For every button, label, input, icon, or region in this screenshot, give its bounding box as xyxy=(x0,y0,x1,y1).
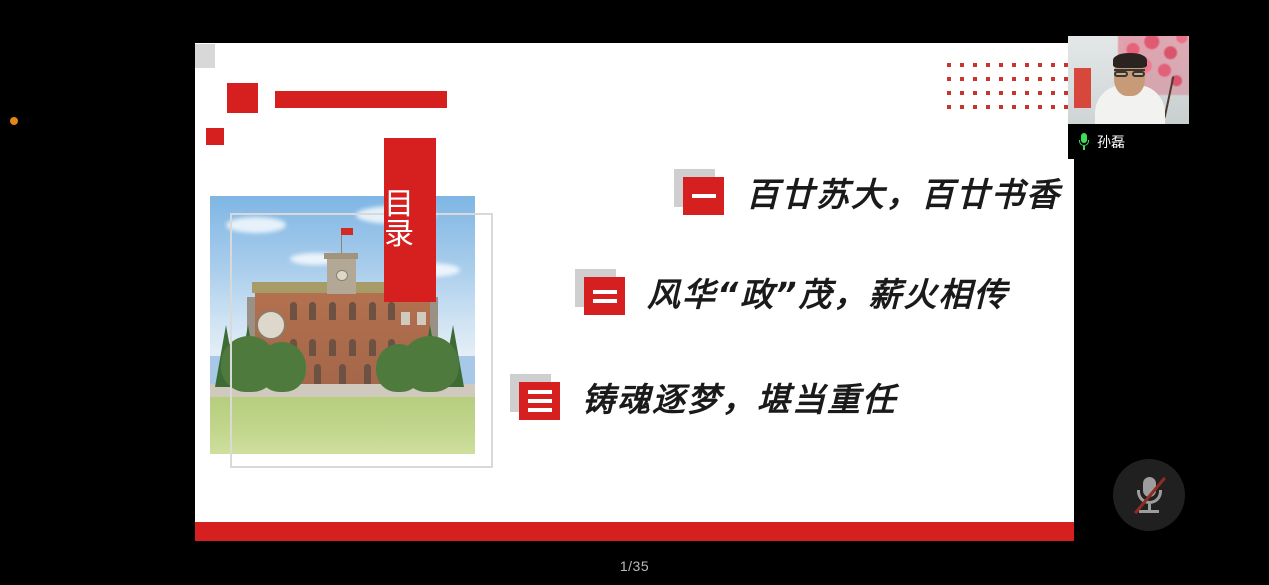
photo-offset-frame xyxy=(230,213,493,468)
toc-heading-block: 目录 xyxy=(384,138,436,302)
glasses-icon xyxy=(1114,69,1145,77)
toc-entry-2[interactable]: 风华“政”茂，薪火相传 xyxy=(575,268,1009,316)
video-person-hair xyxy=(1113,53,1147,68)
toc-entry-2-label: 风华“政”茂，薪火相传 xyxy=(647,268,1009,316)
toc-entry-3-label: 铸魂逐梦，堪当重任 xyxy=(582,373,897,421)
slide-corner-tab xyxy=(195,44,215,68)
number-three-icon xyxy=(510,374,560,420)
toc-entry-1[interactable]: 百廿苏大，百廿书香 xyxy=(674,168,1061,216)
participant-name-bar: 孙磊 xyxy=(1068,124,1189,159)
title-square-small-decoration xyxy=(206,128,224,145)
video-background-poster xyxy=(1074,68,1091,108)
dot-grid-decoration xyxy=(947,63,1074,119)
slide-bottom-band xyxy=(195,522,1074,541)
toc-entry-3[interactable]: 铸魂逐梦，堪当重任 xyxy=(510,373,897,421)
microphone-icon xyxy=(1078,133,1090,150)
status-dot xyxy=(10,117,18,125)
microphone-muted-button[interactable] xyxy=(1113,459,1185,531)
participant-video-tile[interactable]: 孙磊 xyxy=(1068,36,1189,159)
participant-name: 孙磊 xyxy=(1097,132,1125,152)
title-square-decoration xyxy=(227,83,258,113)
toc-entry-1-label: 百廿苏大，百廿书香 xyxy=(746,168,1061,216)
slide-canvas[interactable]: 目录 百廿苏大，百廿书香 风华“政”茂，薪火相传 铸魂逐梦，堪当重任 xyxy=(195,43,1074,541)
page-indicator: 1/35 xyxy=(0,558,1269,574)
title-bar-decoration xyxy=(275,91,447,108)
video-feed xyxy=(1068,36,1189,124)
presentation-stage: 目录 百廿苏大，百廿书香 风华“政”茂，薪火相传 铸魂逐梦，堪当重任 xyxy=(0,0,1269,585)
toc-heading-char-1: 目录 xyxy=(384,190,436,250)
number-two-icon xyxy=(575,269,625,315)
number-one-icon xyxy=(674,169,724,215)
